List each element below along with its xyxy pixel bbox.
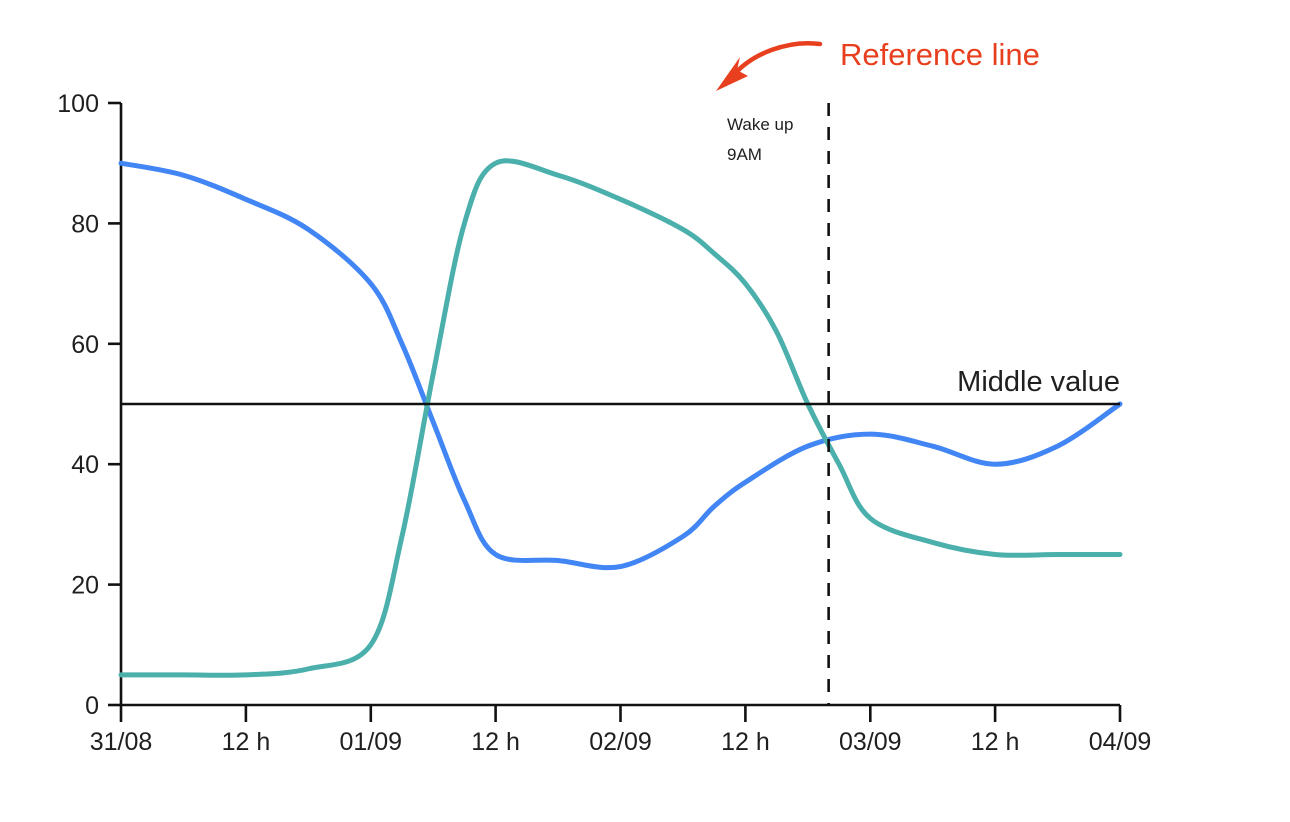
wake-up-label-line2: 9AM	[727, 145, 762, 164]
reference-line-annotation-label: Reference line	[840, 37, 1040, 72]
curved-arrow-icon	[731, 43, 820, 78]
y-tick-label-40: 40	[71, 451, 99, 479]
chart-container: 100 80 60 40 20 0 31/08 12 h 01/09 12 h …	[0, 0, 1290, 822]
x-tick-label-2: 01/09	[340, 728, 403, 756]
wake-up-label-line1: Wake up	[727, 115, 793, 134]
x-tick-label-0: 31/08	[90, 728, 153, 756]
y-tick-label-100: 100	[57, 90, 99, 118]
y-tick-label-80: 80	[71, 210, 99, 238]
y-axis: 100 80 60 40 20 0	[57, 90, 121, 720]
x-tick-label-7: 12 h	[971, 728, 1020, 756]
y-tick-label-60: 60	[71, 331, 99, 359]
x-tick-label-1: 12 h	[222, 728, 271, 756]
middle-value-reference[interactable]: Middle value	[121, 366, 1120, 404]
x-tick-label-6: 03/09	[839, 728, 902, 756]
x-tick-label-3: 12 h	[471, 728, 520, 756]
y-tick-label-0: 0	[85, 692, 99, 720]
middle-value-label: Middle value	[957, 366, 1120, 398]
x-tick-label-5: 12 h	[721, 728, 770, 756]
series-line-teal[interactable]	[121, 161, 1120, 676]
line-chart: 100 80 60 40 20 0 31/08 12 h 01/09 12 h …	[0, 0, 1290, 822]
arrow-head-icon	[716, 57, 748, 91]
x-tick-label-8: 04/09	[1089, 728, 1152, 756]
reference-line-annotation: Reference line	[716, 37, 1040, 91]
y-tick-label-20: 20	[71, 572, 99, 600]
series-group	[121, 161, 1120, 676]
x-tick-label-4: 02/09	[589, 728, 652, 756]
x-axis: 31/08 12 h 01/09 12 h 02/09 12 h 03/09 1…	[90, 705, 1152, 756]
